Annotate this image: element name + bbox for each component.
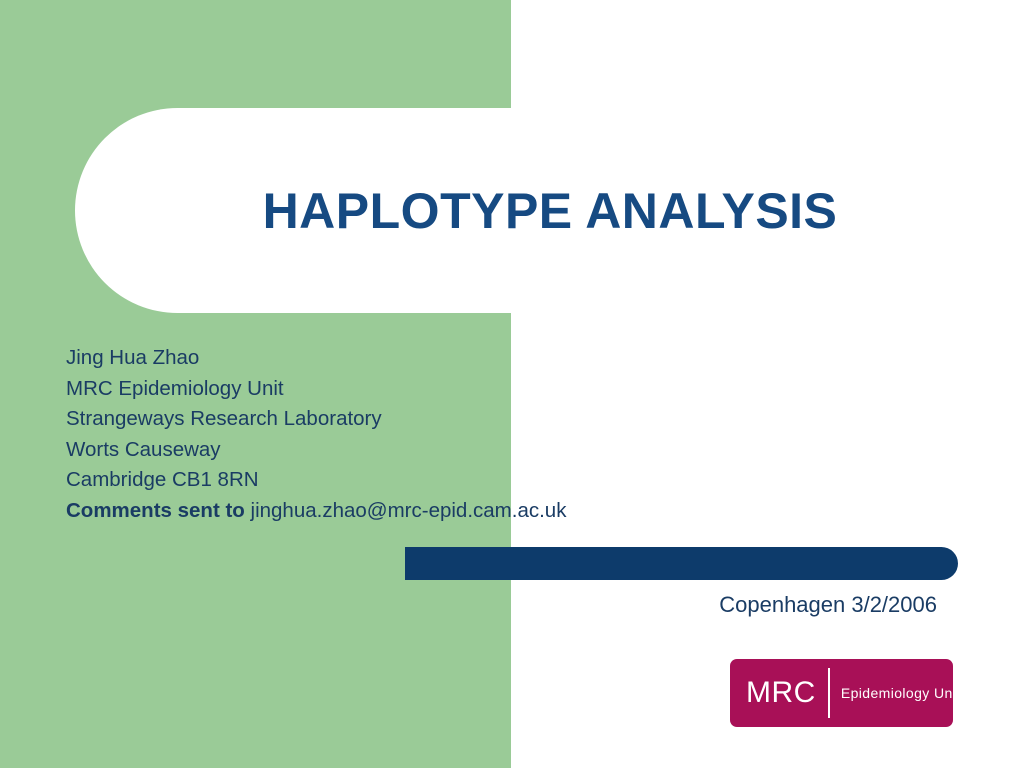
mrc-epidemiology-unit-logo: MRC Epidemiology Unit xyxy=(730,659,953,727)
address-line-institution: MRC Epidemiology Unit xyxy=(66,374,766,405)
address-line-laboratory: Strangeways Research Laboratory xyxy=(66,404,766,435)
comments-label: Comments sent to xyxy=(66,499,245,522)
comments-line: Comments sent to jinghua.zhao@mrc-epid.c… xyxy=(66,496,766,527)
address-line-street: Worts Causeway xyxy=(66,435,766,466)
navy-accent-bar xyxy=(405,547,958,580)
address-line-city: Cambridge CB1 8RN xyxy=(66,465,766,496)
divider-rule xyxy=(828,668,830,718)
page-title: HAPLOTYPE ANALYSIS xyxy=(75,108,965,313)
presentation-slide: HAPLOTYPE ANALYSIS Jing Hua Zhao MRC Epi… xyxy=(0,0,1024,768)
mrc-unit-label: Epidemiology Unit xyxy=(841,685,961,701)
address-line-name: Jing Hua Zhao xyxy=(66,343,766,374)
comments-email: jinghua.zhao@mrc-epid.cam.ac.uk xyxy=(245,499,567,522)
author-address-block: Jing Hua Zhao MRC Epidemiology Unit Stra… xyxy=(66,343,766,527)
venue-date-label: Copenhagen 3/2/2006 xyxy=(500,592,937,618)
mrc-wordmark: MRC xyxy=(746,678,816,708)
